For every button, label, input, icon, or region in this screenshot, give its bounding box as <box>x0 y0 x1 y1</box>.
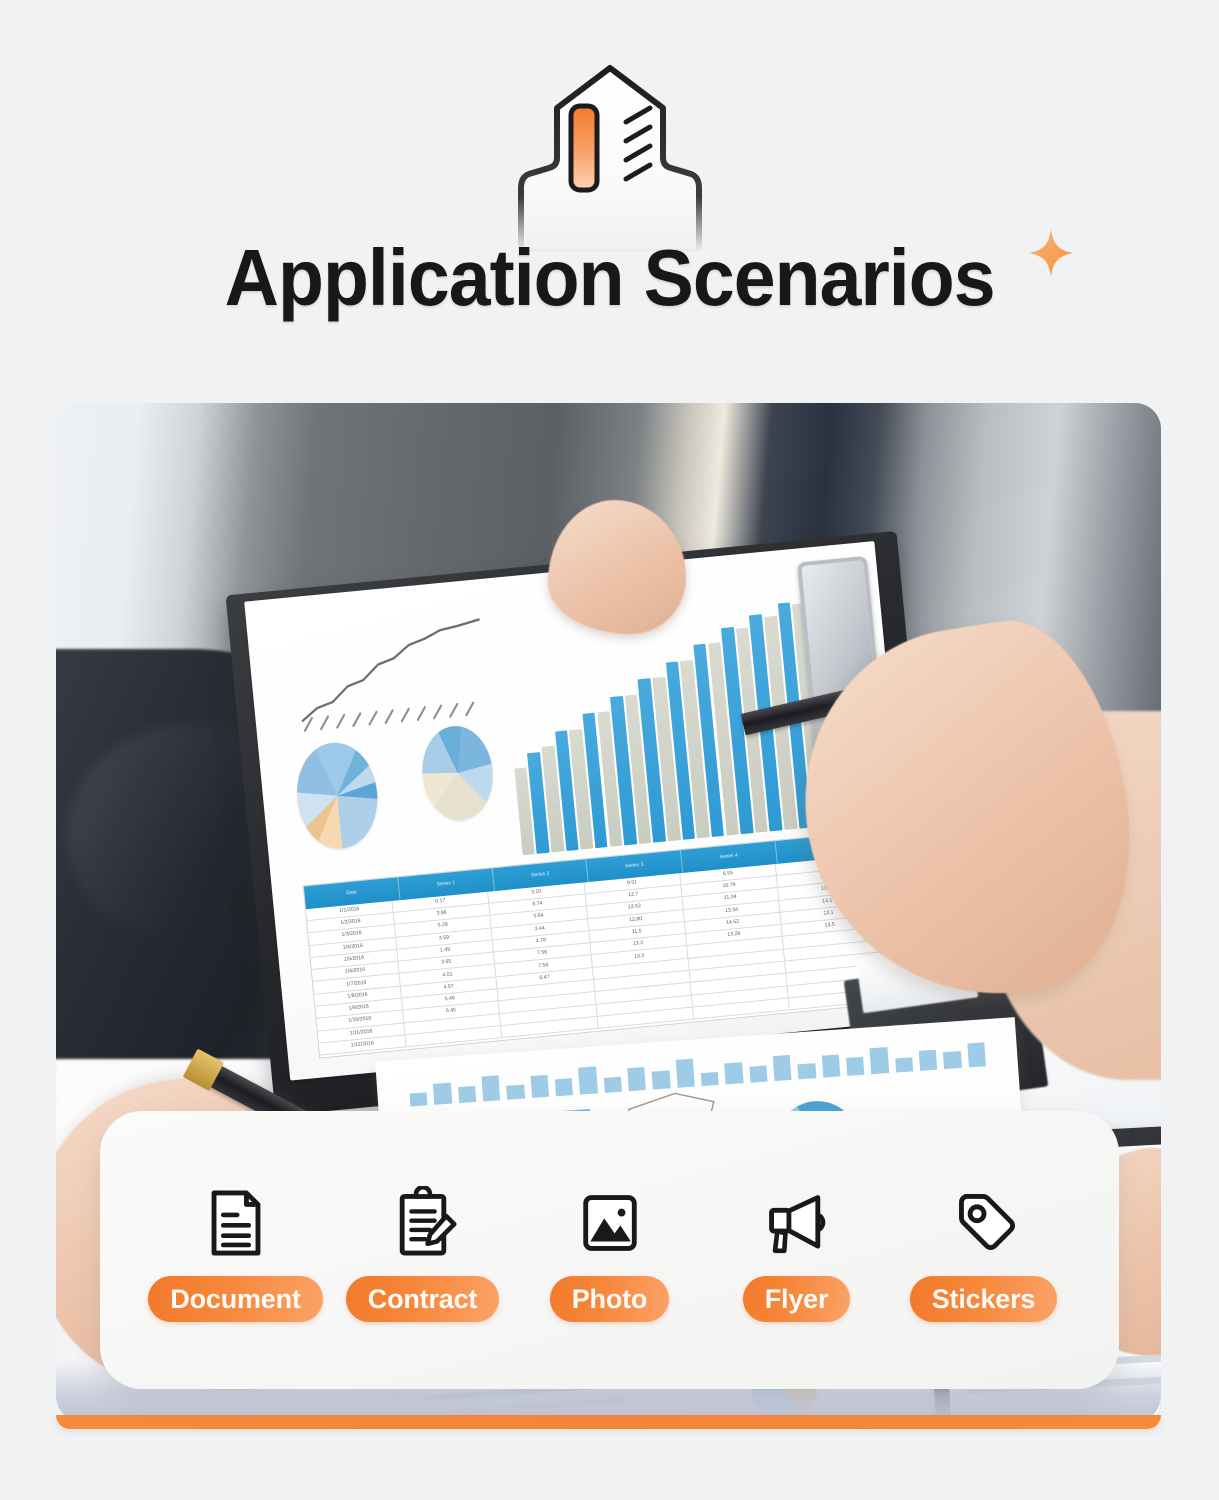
line-chart-sparkline <box>285 612 497 737</box>
image-picture-icon <box>573 1186 647 1260</box>
category-item-stickers[interactable]: Stickers <box>890 1178 1077 1322</box>
application-scenarios-page: Application Scenarios <box>0 0 1219 1500</box>
categories-card: Document Con <box>100 1111 1119 1389</box>
pie-chart-left <box>293 739 382 852</box>
skyscraper-building-icon <box>495 62 725 252</box>
clipboard-pencil-icon <box>386 1186 460 1260</box>
document-file-icon <box>199 1186 273 1260</box>
category-item-photo[interactable]: Photo <box>516 1178 703 1322</box>
category-item-contract[interactable]: Contract <box>329 1178 516 1322</box>
category-label-flyer[interactable]: Flyer <box>743 1276 851 1322</box>
pie-chart-right <box>419 723 497 823</box>
four-point-sparkle-icon <box>1028 228 1074 278</box>
photo-accent-bar <box>56 1415 1161 1429</box>
category-label-contract[interactable]: Contract <box>346 1276 499 1322</box>
price-tag-icon <box>947 1186 1021 1260</box>
category-item-document[interactable]: Document <box>142 1178 329 1322</box>
category-label-photo[interactable]: Photo <box>550 1276 669 1322</box>
category-item-flyer[interactable]: Flyer <box>703 1178 890 1322</box>
categories-row: Document Con <box>100 1111 1119 1389</box>
page-header: Application Scenarios <box>0 0 1219 400</box>
data-table: Date Series 1 Series 2 Series 3 Series 4… <box>303 831 887 1058</box>
category-label-stickers[interactable]: Stickers <box>910 1276 1057 1322</box>
category-label-document[interactable]: Document <box>148 1276 322 1322</box>
page-title: Application Scenarios <box>224 238 994 318</box>
megaphone-icon <box>760 1186 834 1260</box>
